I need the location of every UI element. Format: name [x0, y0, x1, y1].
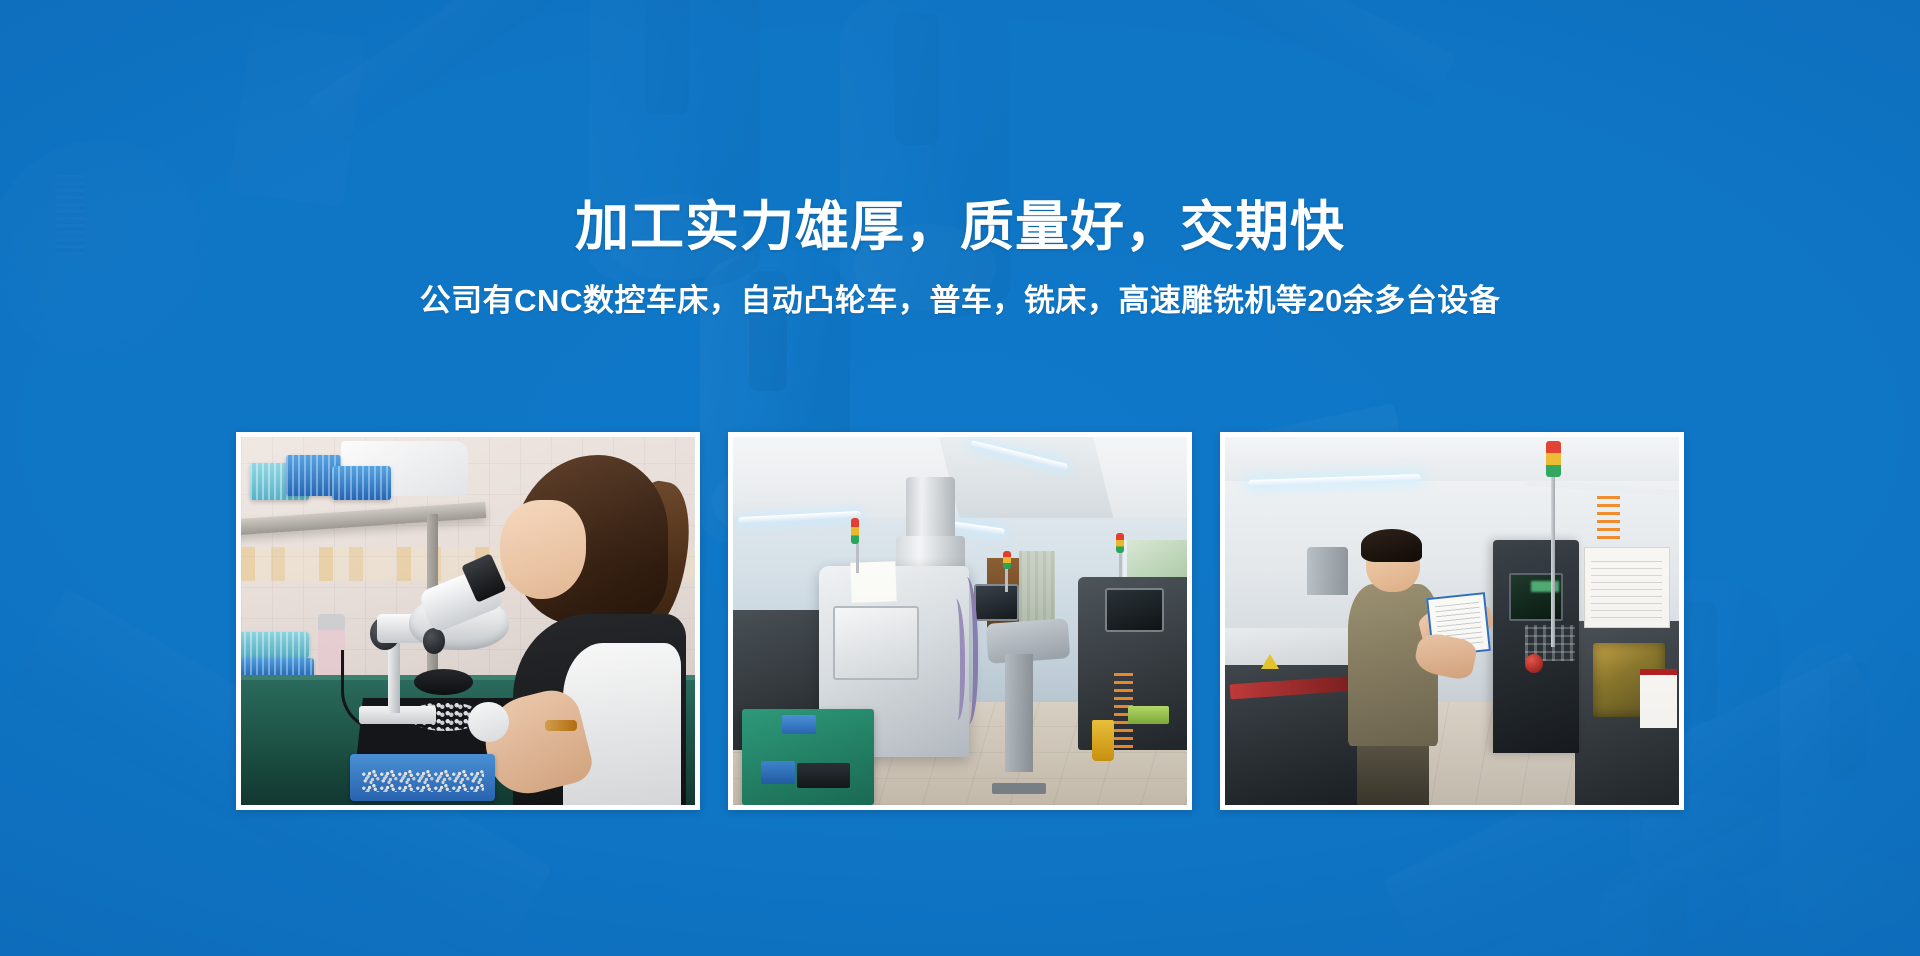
posted-process-chart [1584, 547, 1670, 628]
storage-basket-cyan-low-1 [241, 632, 309, 658]
photo-qc-microscope [241, 437, 695, 805]
photo-gallery [0, 432, 1920, 810]
promo-banner: 加工实力雄厚，质量好，交期快 公司有CNC数控车床，自动凸轮车，普车，铣床，高速… [0, 0, 1920, 956]
photo-cnc-workshop [733, 437, 1187, 805]
conveyor-base-foot [992, 783, 1046, 794]
green-tool-cart [742, 709, 874, 805]
orange-coiled-cord [1597, 496, 1620, 540]
andon-signal-light-3 [1116, 533, 1124, 553]
blue-parts-tray [350, 754, 495, 802]
photo-card-operator-console[interactable] [1220, 432, 1684, 810]
operator-trousers [1357, 739, 1430, 805]
conveyor-support-leg [1005, 654, 1032, 772]
coolant-hose-2 [946, 599, 964, 720]
andon-signal-light-1 [851, 518, 859, 544]
machine-access-panel [833, 606, 919, 680]
tool-cart-bin-blue-2 [761, 761, 795, 784]
banner-headline: 加工实力雄厚，质量好，交期快 [0, 200, 1920, 254]
operator-hair [1361, 529, 1422, 562]
andon-signal-light-2 [1003, 551, 1011, 569]
andon-tower-pole [1551, 477, 1555, 646]
warning-triangle-icon [1261, 654, 1279, 669]
banner-text-block: 加工实力雄厚，质量好，交期快 公司有CNC数控车床，自动凸轮车，普车，铣床，高速… [0, 200, 1920, 319]
metal-pellets-in-tray [362, 770, 484, 792]
photo-card-cnc-workshop[interactable] [728, 432, 1192, 810]
inspector-face [500, 500, 586, 599]
inspector-bracelet [545, 720, 577, 731]
photo-operator-console [1225, 437, 1679, 805]
cnc-screen-glow [1531, 581, 1558, 592]
emergency-stop-button [1525, 654, 1543, 672]
banner-subheadline: 公司有CNC数控车床，自动凸轮车，普车，铣床，高速雕铣机等20余多台设备 [0, 282, 1920, 319]
green-parts-tray [1128, 706, 1169, 724]
lathe-right-control-screen [1105, 588, 1164, 632]
photo-card-qc-microscope[interactable] [236, 432, 700, 810]
inspector-gloved-hand [468, 702, 509, 742]
extraction-duct [1307, 547, 1348, 595]
lathe-back-control-screen [974, 584, 1019, 621]
microscope-stage [414, 669, 473, 695]
yellow-bucket [1092, 720, 1115, 760]
tool-cart-bin-dark [797, 763, 850, 788]
posted-safety-notice [1640, 669, 1676, 728]
storage-basket-blue-top-2 [332, 466, 391, 499]
tool-cart-bin-blue-1 [782, 715, 816, 734]
andon-tower-light [1546, 441, 1561, 478]
